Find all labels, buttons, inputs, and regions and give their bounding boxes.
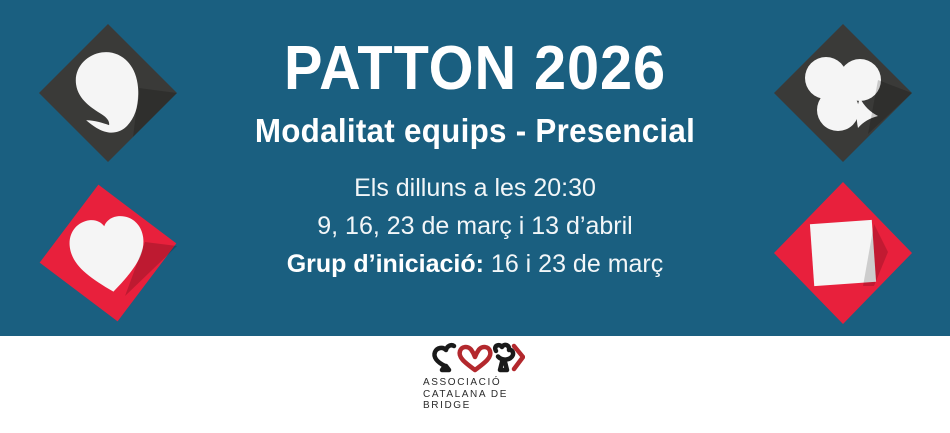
wordmark-line-3: BRIDGE — [423, 400, 527, 412]
detail-line-schedule: Els dilluns a les 20:30 — [175, 169, 775, 207]
detail-text-2: 16 i 23 de març — [484, 250, 663, 278]
logo-diamond-icon — [514, 346, 523, 369]
detail-text-0: Els dilluns a les 20:30 — [354, 174, 596, 202]
poster-headline: PATTON 2026 — [196, 0, 754, 100]
spade-badge — [33, 18, 183, 168]
logo-spade-icon — [434, 345, 454, 370]
club-badge — [768, 18, 918, 168]
poster-banner: PATTON 2026 Modalitat equips - Presencia… — [0, 0, 950, 433]
detail-lead-2: Grup d’iniciació: — [287, 250, 484, 278]
spade-shadow — [133, 88, 177, 137]
acb-wordmark: ASSOCIACIÓ CATALANA DE BRIDGE — [423, 377, 527, 412]
acb-logo-mark — [425, 340, 525, 374]
detail-line-dates: 9, 16, 23 de març i 13 d’abril — [175, 207, 775, 245]
poster-text-block: PATTON 2026 Modalitat equips - Presencia… — [175, 0, 775, 336]
poster-subheadline: Modalitat equips - Presencial — [190, 100, 760, 147]
detail-line-beginners: Grup d’iniciació: 16 i 23 de març — [175, 245, 775, 283]
poster-detail-list: Els dilluns a les 20:30 9, 16, 23 de mar… — [175, 147, 775, 283]
diamond-badge — [768, 178, 918, 328]
detail-text-1: 9, 16, 23 de març i 13 d’abril — [317, 212, 632, 240]
wordmark-line-2: CATALANA DE — [423, 389, 527, 401]
heart-badge — [33, 178, 183, 328]
wordmark-line-1: ASSOCIACIÓ — [423, 377, 527, 389]
logo-club-icon — [495, 345, 513, 370]
logo-heart-icon — [460, 347, 491, 370]
acb-logo: ASSOCIACIÓ CATALANA DE BRIDGE — [0, 340, 950, 430]
